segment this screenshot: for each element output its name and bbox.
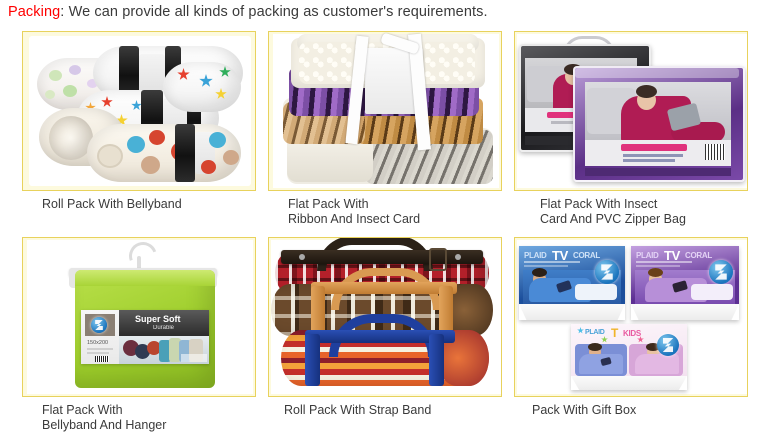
page-title-text: We can provide all kinds of packing as c… <box>64 4 487 20</box>
gift-box-purple: PLAID TV CORAL <box>631 246 739 320</box>
gift-box-blue-title: PLAID <box>524 251 547 260</box>
caption-pack-with-gift-box: Pack With Gift Box <box>514 397 748 443</box>
belly-band-card: Super Soft Durable 150x200 <box>81 310 209 364</box>
thumbnail-flat-pack-ribbon-insect-card[interactable] <box>268 31 502 191</box>
gift-box-kids: PLAID T KIDS <box>571 324 687 390</box>
thumbnail-pack-with-gift-box[interactable]: PLAID TV CORAL <box>514 237 748 397</box>
photo-roll-pack-strap-band <box>269 238 501 396</box>
card-size: 150x200 <box>87 340 108 346</box>
thumbnail-flat-pack-insect-card-pvc-zipper-bag[interactable] <box>514 31 748 191</box>
page-title: Packing: We can provide all kinds of pac… <box>8 4 488 20</box>
gallery-item-roll-pack-bellyband[interactable]: Roll Pack With Bellyband <box>22 31 256 237</box>
caption-flat-pack-ribbon-insect-card: Flat Pack With Ribbon And Insect Card <box>268 191 502 237</box>
gift-box-kids-title3: KIDS <box>623 329 641 338</box>
gallery-item-roll-pack-strap-band[interactable]: Roll Pack With Strap Band <box>268 237 502 443</box>
photo-pack-with-gift-box: PLAID TV CORAL <box>515 238 747 396</box>
gallery-item-flat-pack-bellyband-hanger[interactable]: Super Soft Durable 150x200 <box>22 237 256 443</box>
gift-box-blue-title3: CORAL <box>573 251 600 260</box>
card-subtitle: Durable <box>153 325 174 331</box>
gallery-item-flat-pack-insect-card-pvc-zipper-bag[interactable]: Flat Pack With Insect Card And PVC Zippe… <box>514 31 748 237</box>
photo-flat-pack-insect-card-pvc-zipper-bag <box>515 32 747 190</box>
gallery-item-pack-with-gift-box[interactable]: PLAID TV CORAL <box>514 237 748 443</box>
gift-box-purple-title3: CORAL <box>685 251 712 260</box>
packing-grid: Roll Pack With Bellyband <box>22 31 748 443</box>
thumbnail-flat-pack-bellyband-hanger[interactable]: Super Soft Durable 150x200 <box>22 237 256 397</box>
caption-flat-pack-bellyband-hanger: Flat Pack With Bellyband And Hanger <box>22 397 256 443</box>
photo-flat-pack-ribbon-insect-card <box>269 32 501 190</box>
gift-box-kids-title2: T <box>611 326 618 340</box>
caption-roll-pack-bellyband: Roll Pack With Bellyband <box>22 191 256 237</box>
packing-gallery-page: Packing: We can provide all kinds of pac… <box>0 0 762 447</box>
card-title: Super Soft <box>135 314 181 324</box>
caption-flat-pack-insect-card-pvc-zipper-bag: Flat Pack With Insect Card And PVC Zippe… <box>514 191 748 237</box>
gift-box-purple-title: PLAID <box>636 251 659 260</box>
gift-box-kids-title: PLAID <box>585 329 605 336</box>
brand-logo-icon <box>91 317 107 333</box>
gallery-item-flat-pack-ribbon-insect-card[interactable]: Flat Pack With Ribbon And Insect Card <box>268 31 502 237</box>
thumbnail-roll-pack-strap-band[interactable] <box>268 237 502 397</box>
gift-box-blue: PLAID TV CORAL <box>519 246 625 320</box>
caption-roll-pack-strap-band: Roll Pack With Strap Band <box>268 397 502 443</box>
photo-roll-pack-bellyband <box>23 32 255 190</box>
page-title-keyword: Packing <box>8 4 60 20</box>
photo-flat-pack-bellyband-hanger: Super Soft Durable 150x200 <box>23 238 255 396</box>
thumbnail-roll-pack-bellyband[interactable] <box>22 31 256 191</box>
